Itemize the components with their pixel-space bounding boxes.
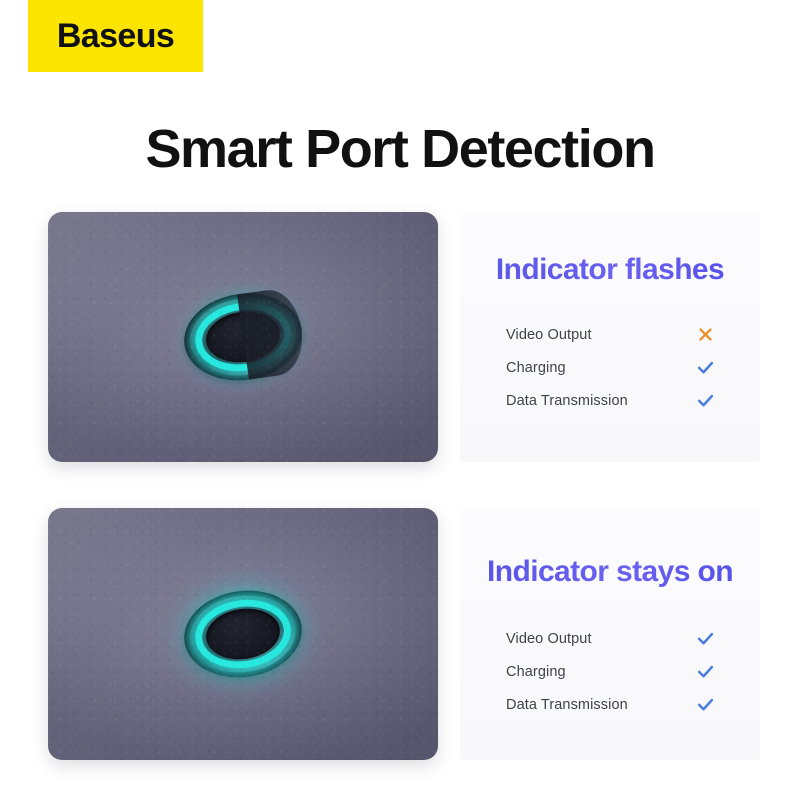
feature-row-data-transmission: Data Transmission	[506, 384, 718, 417]
infographic-page: Baseus Smart Port Detection Indicator fl…	[0, 0, 800, 800]
feature-row-charging: Charging	[506, 655, 718, 688]
feature-row-video-output: Video Output	[506, 622, 718, 655]
section-flashing: Indicator flashes Video Output Charging	[0, 212, 800, 462]
check-icon	[692, 662, 718, 681]
cross-icon	[692, 326, 718, 343]
check-icon	[692, 358, 718, 377]
info-panel-steady: Indicator stays on Video Output Charging	[460, 508, 760, 760]
led-indicator-steady	[179, 583, 308, 685]
device-image-steady	[48, 508, 438, 760]
feature-row-charging: Charging	[506, 351, 718, 384]
panel-heading-flashing: Indicator flashes	[460, 252, 760, 288]
feature-list-steady: Video Output Charging	[460, 622, 760, 721]
feature-label: Video Output	[506, 327, 592, 343]
check-icon	[692, 391, 718, 410]
info-panel-flashing: Indicator flashes Video Output Charging	[460, 212, 760, 462]
page-title: Smart Port Detection	[0, 118, 800, 180]
feature-row-video-output: Video Output	[506, 318, 718, 351]
section-steady: Indicator stays on Video Output Charging	[0, 508, 800, 760]
check-icon	[692, 695, 718, 714]
brand-logo-text: Baseus	[57, 19, 174, 53]
feature-list-flashing: Video Output Charging	[460, 318, 760, 417]
led-indicator-flashing	[179, 286, 308, 388]
feature-label: Data Transmission	[506, 393, 628, 409]
feature-label: Video Output	[506, 631, 592, 647]
brand-logo: Baseus	[28, 0, 203, 72]
panel-heading-steady: Indicator stays on	[460, 554, 760, 590]
device-image-flashing	[48, 212, 438, 462]
check-icon	[692, 629, 718, 648]
feature-label: Charging	[506, 360, 566, 376]
feature-row-data-transmission: Data Transmission	[506, 688, 718, 721]
feature-label: Data Transmission	[506, 697, 628, 713]
feature-label: Charging	[506, 664, 566, 680]
